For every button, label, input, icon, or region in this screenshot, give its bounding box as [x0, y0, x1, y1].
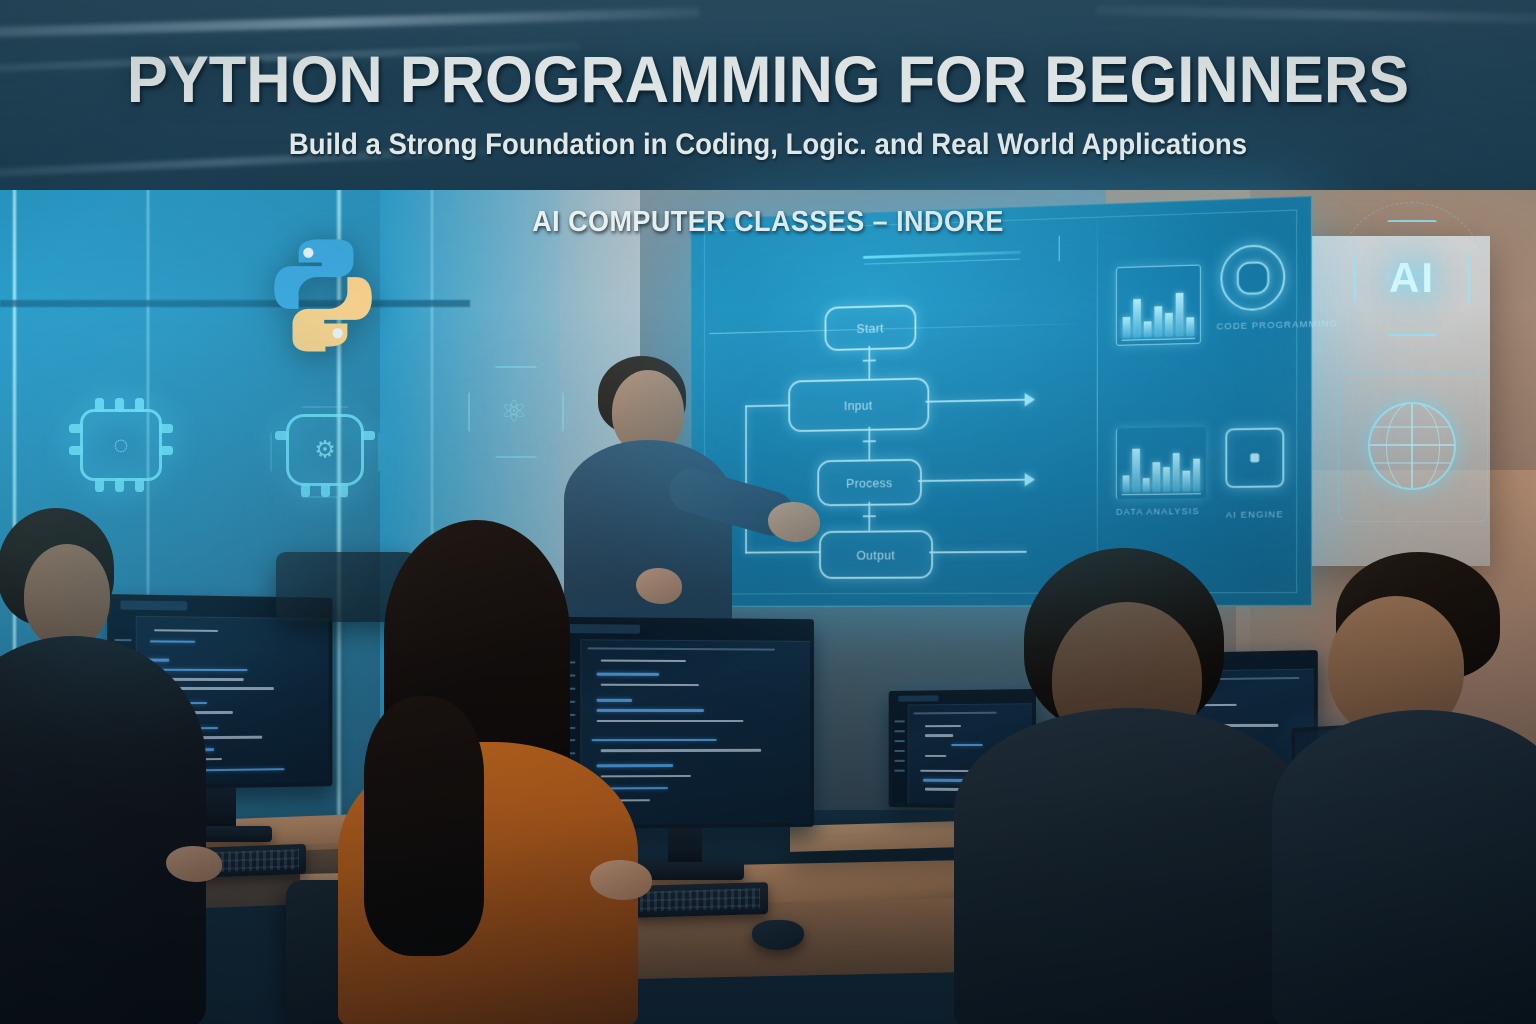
globe-meridian — [1386, 402, 1440, 490]
bar-chart-axis — [1122, 338, 1195, 341]
instructor-hand — [768, 502, 820, 542]
flowchart-arrow — [918, 479, 1026, 482]
globe-parallel — [1368, 426, 1456, 428]
globe-parallel — [1368, 444, 1456, 446]
bar-chart-bars — [1123, 282, 1194, 338]
bar-chart-bars — [1123, 441, 1200, 492]
flowchart-arrow — [926, 399, 1027, 403]
page-subtitle: Build a Strong Foundation in Coding, Log… — [61, 128, 1474, 162]
window-mullion-horizontal — [0, 300, 470, 307]
student-right-back — [960, 548, 1290, 1024]
student-center-hand — [590, 860, 652, 900]
globe-parallel — [1368, 462, 1456, 464]
flowchart-connector-tick — [863, 440, 876, 442]
flowchart-connector-tick — [863, 515, 876, 517]
ceiling-light-bar — [0, 7, 700, 38]
processor-hologram-left: ◌ — [62, 395, 174, 491]
chip-square-icon — [1225, 427, 1284, 488]
chip-core-glyph: ◌ — [113, 430, 128, 461]
flowchart-arrow-head — [1025, 393, 1035, 407]
ide-tab — [898, 696, 939, 702]
widget-label: AI ENGINE — [1217, 509, 1294, 521]
page-title: PYTHON PROGRAMMING FOR BEGINNERS — [54, 46, 1482, 112]
student-left-head — [24, 544, 110, 648]
student-left-torso — [0, 636, 206, 1024]
screen-divider — [1097, 215, 1098, 596]
student-far-torso — [1272, 710, 1536, 1024]
widget-label: CODE PROGRAMMING — [1217, 320, 1290, 333]
student-right-torso — [954, 708, 1306, 1024]
bar-chart-axis — [1122, 493, 1201, 495]
widget-bar-chart-top — [1116, 265, 1199, 344]
student-right-far — [1300, 552, 1536, 1024]
student-center — [332, 520, 662, 1024]
bar-chart-icon — [1116, 427, 1206, 499]
student-left — [0, 508, 200, 1024]
flowchart-box-start: Start — [825, 304, 917, 351]
monitor-left-stand — [206, 788, 236, 830]
poster-header: PYTHON PROGRAMMING FOR BEGINNERS Build a… — [0, 46, 1536, 162]
bar-chart-icon — [1116, 265, 1201, 346]
poster-root: ◌ ⚙ ⚛ — [0, 0, 1536, 1024]
widget-bar-chart-bottom: DATA ANALYSIS — [1116, 427, 1205, 523]
python-logo — [262, 232, 384, 354]
widget-chip-icon: AI ENGINE — [1217, 421, 1294, 531]
flowchart-connector-tick — [863, 359, 876, 361]
student-center-hair-strand — [364, 696, 484, 956]
flowchart-arrow-head — [1025, 473, 1035, 487]
hud-column: AI — [1318, 196, 1518, 576]
ceiling-light-bar — [1096, 5, 1536, 25]
mouse-center — [752, 920, 804, 950]
ai-badge-label: AI — [1389, 254, 1435, 302]
flowchart-connector — [868, 346, 870, 379]
globe-icon — [1368, 402, 1456, 490]
neural-glyph: ⚛ — [501, 395, 528, 430]
organization-label: AI COMPUTER CLASSES – INDORE — [54, 206, 1482, 239]
processor-hologram-right: ⚙ — [270, 402, 380, 498]
screen-decor-tick — [1059, 236, 1060, 261]
cpu-chip-icon: ◌ — [80, 409, 162, 481]
widget-neural-icon: CODE PROGRAMMING — [1217, 244, 1290, 342]
student-left-hand — [166, 846, 222, 882]
neural-circle-icon — [1220, 244, 1285, 312]
widget-label: DATA ANALYSIS — [1116, 506, 1205, 518]
screen-widget-panel: CODE PROGRAMMING DATA ANALYSIS AI ENGINE — [1116, 239, 1297, 589]
flowchart-connector — [868, 427, 870, 460]
ide-sidebar — [892, 704, 908, 803]
hologram-octagon-frame — [270, 406, 380, 498]
